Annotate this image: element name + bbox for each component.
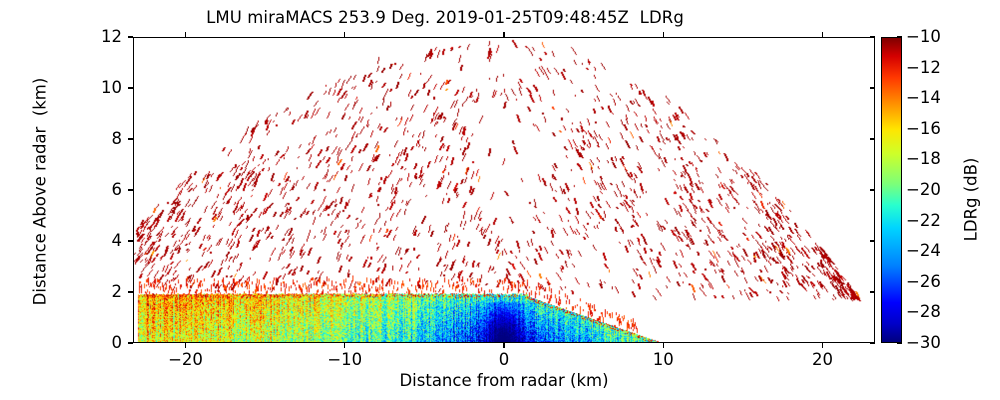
x-tick	[822, 343, 823, 348]
colorbar-tick-label: −16	[906, 119, 941, 138]
x-tick-label: 10	[628, 350, 698, 369]
colorbar-tick-label: −26	[906, 272, 941, 291]
colorbar-tick-label: −28	[906, 302, 941, 321]
y-tick-right	[870, 240, 875, 241]
x-tick-label: 0	[469, 350, 539, 369]
x-tick	[503, 343, 504, 348]
y-tick	[128, 291, 133, 292]
x-tick-top	[503, 32, 504, 37]
x-tick	[663, 343, 664, 348]
y-tick-right	[870, 87, 875, 88]
y-tick	[128, 138, 133, 139]
x-tick-top	[185, 32, 186, 37]
y-tick	[128, 189, 133, 190]
colorbar-label: LDRg (dB)	[962, 47, 981, 353]
y-tick	[128, 342, 133, 343]
plot-title: LMU miraMACS 253.9 Deg. 2019-01-25T09:48…	[0, 8, 890, 27]
colorbar-tick-label: −14	[906, 88, 941, 107]
radar-data-canvas	[134, 38, 874, 342]
y-tick-right	[870, 189, 875, 190]
y-tick-label: 0	[78, 333, 122, 352]
y-tick-label: 2	[78, 282, 122, 301]
colorbar-tick-label: −20	[906, 180, 941, 199]
y-tick-label: 4	[78, 231, 122, 250]
x-tick-label: −20	[151, 350, 221, 369]
y-tick	[128, 36, 133, 37]
y-tick-label: 8	[78, 129, 122, 148]
colorbar-tick-label: −10	[906, 27, 941, 46]
y-tick-right	[870, 138, 875, 139]
colorbar-tick-label: −12	[906, 58, 941, 77]
x-tick-top	[822, 32, 823, 37]
y-tick	[128, 87, 133, 88]
colorbar-tick-label: −24	[906, 241, 941, 260]
colorbar-tick-label: −22	[906, 211, 941, 230]
y-tick-right	[870, 291, 875, 292]
y-axis-label: Distance Above radar (km)	[31, 39, 50, 345]
y-tick-right	[870, 342, 875, 343]
x-tick	[185, 343, 186, 348]
x-tick-label: −10	[310, 350, 380, 369]
colorbar	[881, 37, 902, 343]
x-tick-top	[663, 32, 664, 37]
radar-rhi-figure: LMU miraMACS 253.9 Deg. 2019-01-25T09:48…	[0, 0, 1000, 400]
x-tick-label: 20	[787, 350, 857, 369]
colorbar-gradient	[882, 38, 901, 342]
y-tick-right	[870, 36, 875, 37]
y-tick	[128, 240, 133, 241]
x-tick	[344, 343, 345, 348]
y-tick-label: 6	[78, 180, 122, 199]
plot-axes	[133, 37, 875, 343]
colorbar-tick-label: −30	[906, 333, 941, 352]
y-tick-label: 12	[78, 27, 122, 46]
x-axis-label: Distance from radar (km)	[133, 371, 875, 390]
x-tick-top	[344, 32, 345, 37]
colorbar-tick-label: −18	[906, 149, 941, 168]
y-tick-label: 10	[78, 78, 122, 97]
